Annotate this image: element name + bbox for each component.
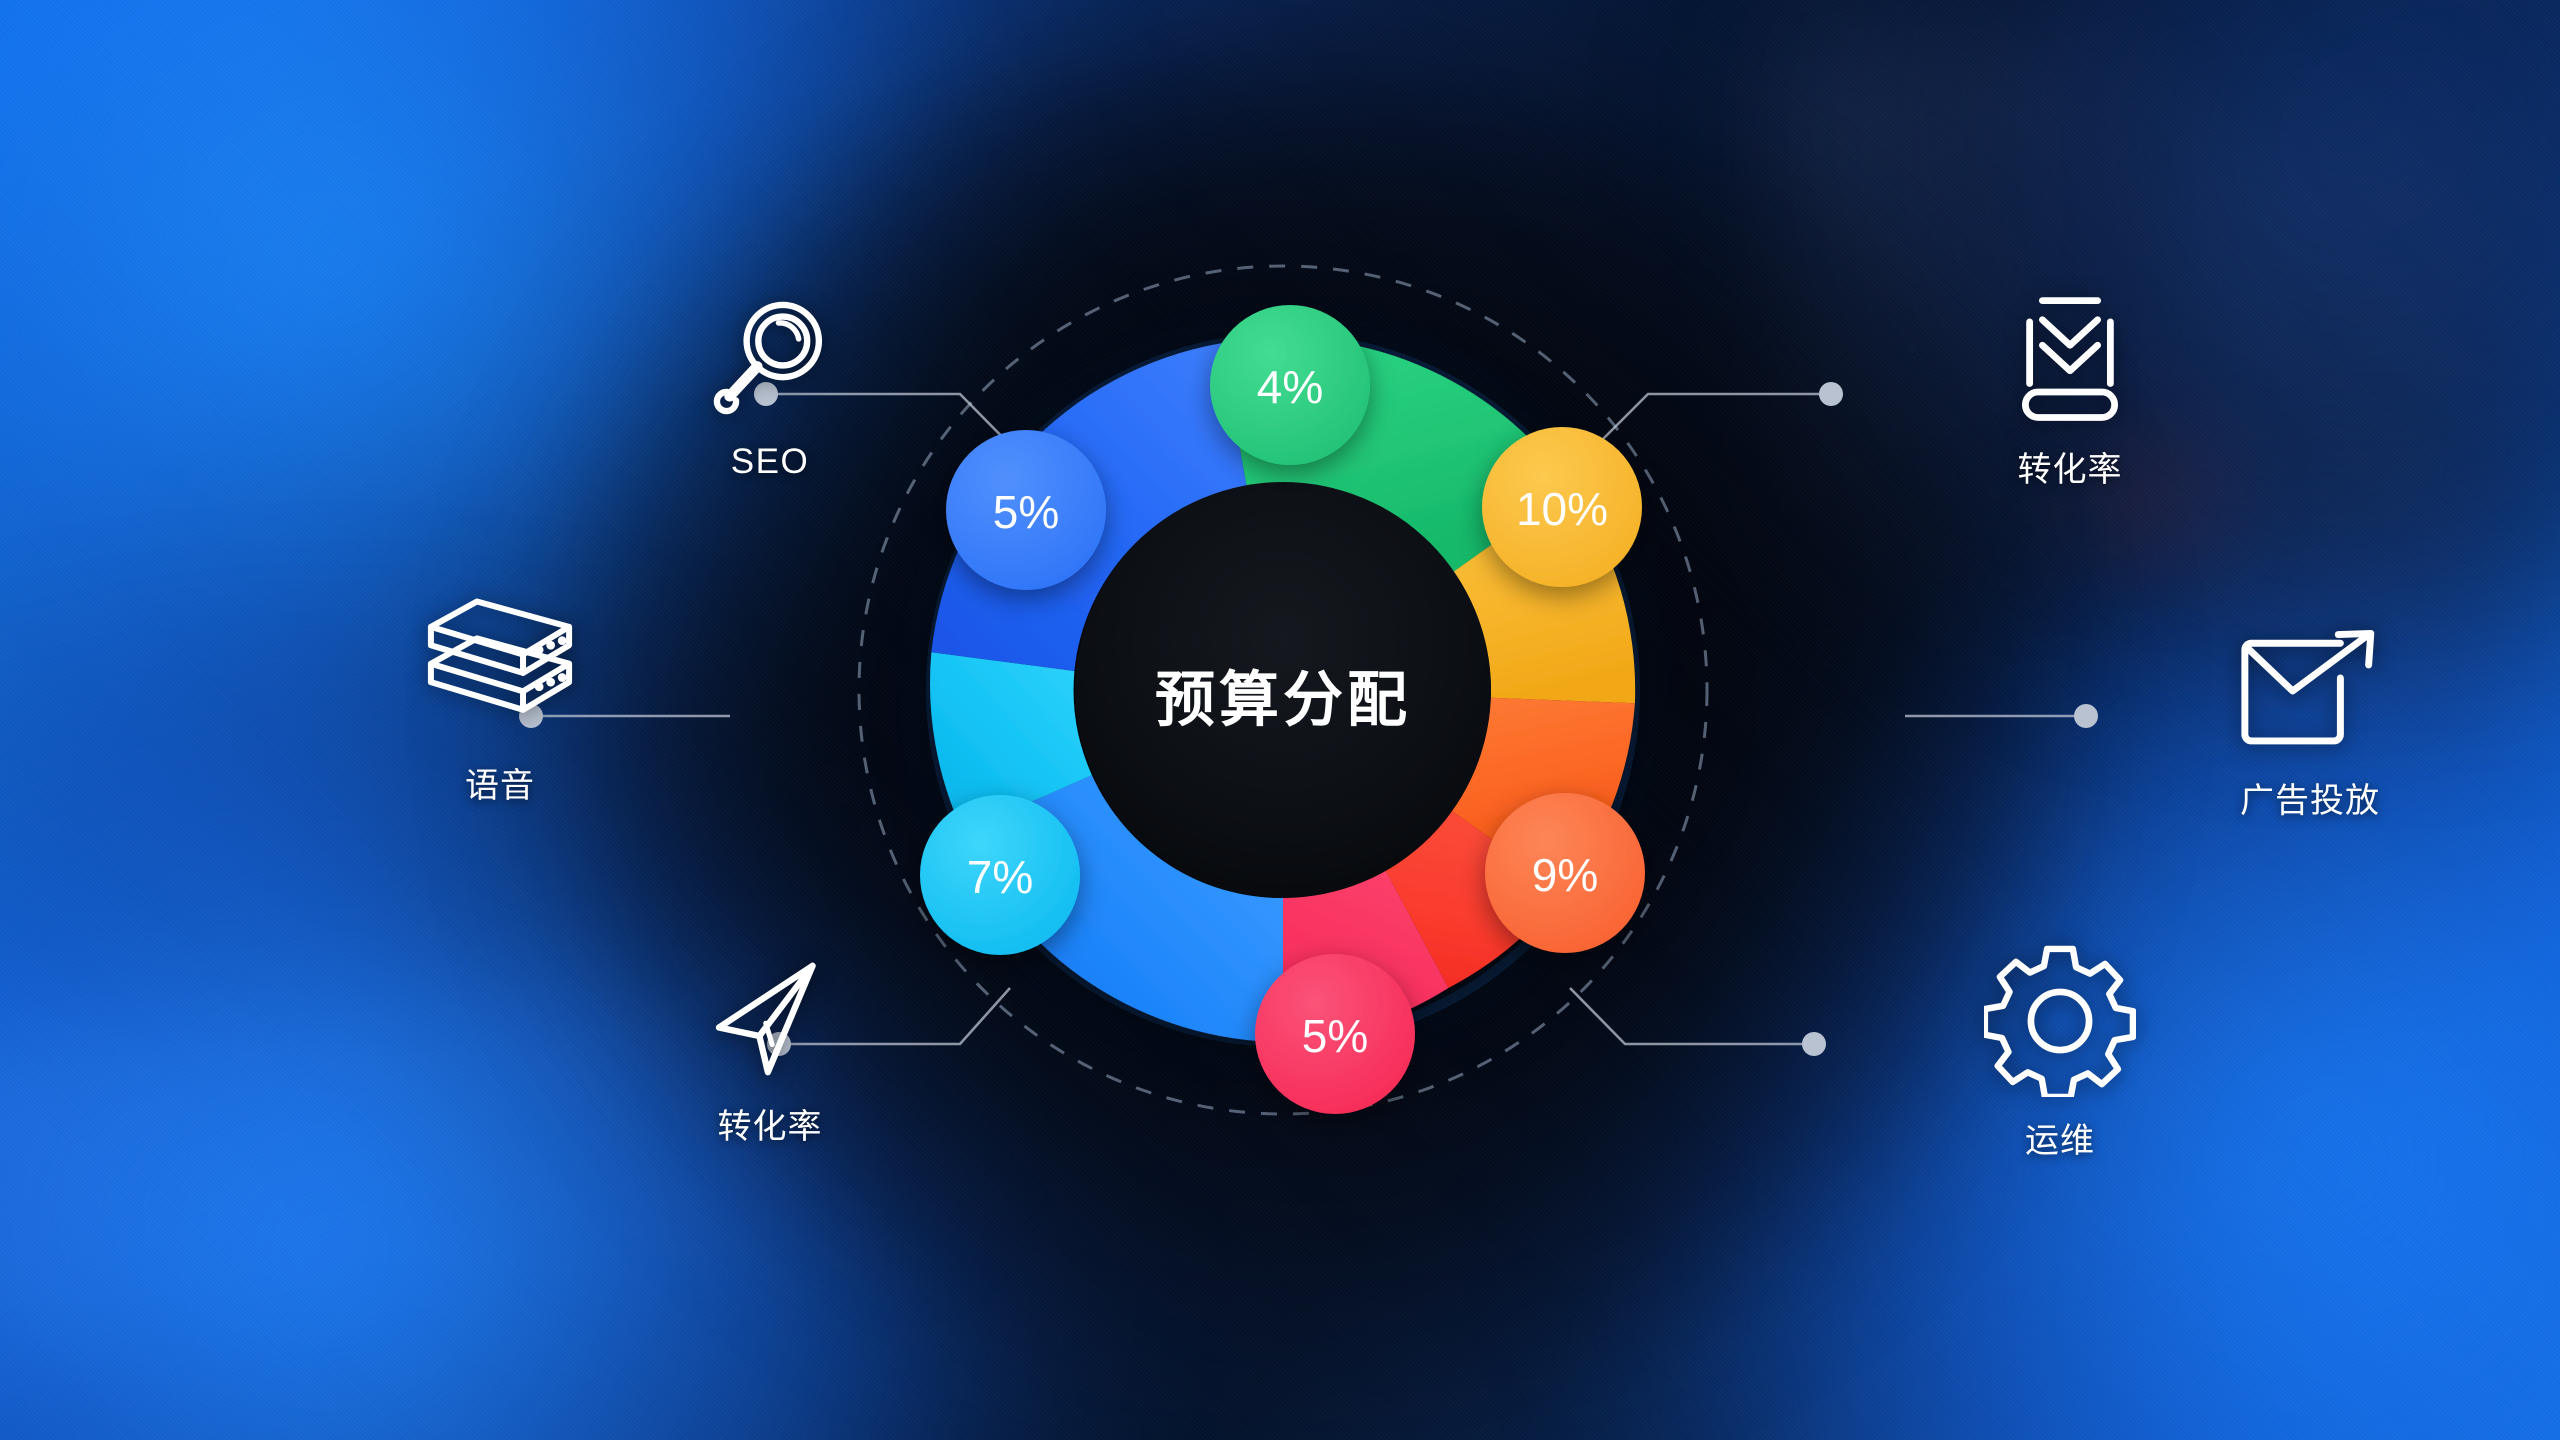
connector-ops bbox=[1570, 988, 1810, 1044]
label-group-leadsend[interactable]: 转化率 bbox=[640, 955, 900, 1148]
connector-convert bbox=[1582, 394, 1827, 460]
label-group-adbuy[interactable]: 广告投放 bbox=[2160, 625, 2460, 822]
label-group-seo[interactable]: SEO bbox=[640, 290, 900, 482]
connector-dot-ops bbox=[1802, 1032, 1826, 1056]
label-group-voice[interactable]: 语音 bbox=[370, 590, 630, 807]
label-text-leadsend: 转化率 bbox=[640, 1099, 900, 1148]
bubble-label-cyan: 7% bbox=[967, 851, 1033, 903]
magnifier-icon bbox=[702, 290, 838, 426]
bubble-label-blue: 5% bbox=[993, 486, 1059, 538]
label-text-voice: 语音 bbox=[370, 758, 630, 807]
label-text-ops: 运维 bbox=[1930, 1113, 2190, 1162]
paper-plane-icon bbox=[702, 955, 838, 1083]
label-group-convert[interactable]: 转化率 bbox=[1940, 290, 2200, 491]
bubble-label-rose: 5% bbox=[1302, 1010, 1368, 1062]
bubble-label-amber: 10% bbox=[1516, 483, 1608, 535]
label-text-convert: 转化率 bbox=[1940, 442, 2200, 491]
label-text-adbuy: 广告投放 bbox=[2160, 773, 2460, 822]
connector-dot-adbuy bbox=[2074, 704, 2098, 728]
infographic-canvas: 4% 10% 9% 5% 7% 5% 预算分配 SEO bbox=[0, 0, 2560, 1440]
server-stack-icon bbox=[416, 590, 584, 742]
gear-icon bbox=[1984, 945, 2136, 1097]
label-text-seo: SEO bbox=[640, 442, 900, 482]
label-group-ops[interactable]: 运维 bbox=[1930, 945, 2190, 1162]
bubble-label-green: 4% bbox=[1257, 361, 1323, 413]
collect-down-icon bbox=[2004, 290, 2136, 426]
connector-dot-convert bbox=[1819, 382, 1843, 406]
bubble-label-orange: 9% bbox=[1532, 849, 1598, 901]
mail-arrow-icon bbox=[2234, 625, 2386, 757]
page-title: 预算分配 bbox=[1155, 667, 1411, 734]
